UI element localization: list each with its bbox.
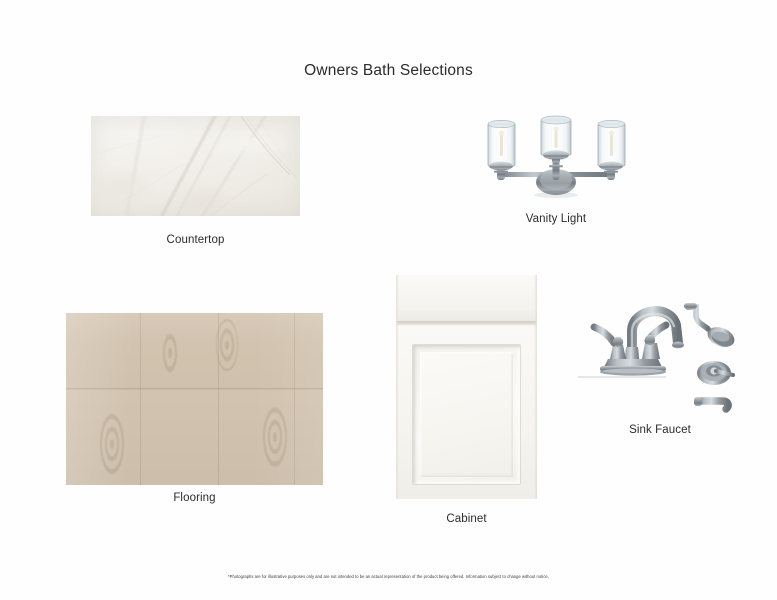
countertop-slab-icon (91, 116, 300, 216)
disclaimer-footnote: *Photographs are for illustrative purpos… (0, 573, 777, 580)
flooring-plank-icon (66, 313, 323, 485)
cabinet-door-panel (420, 352, 513, 477)
cabinet-door-frame (413, 345, 520, 484)
cabinet-door-front (396, 327, 537, 499)
cabinet-door-icon (396, 275, 537, 499)
vanity-light-icon (473, 110, 639, 202)
caption-vanity-light: Vanity Light (473, 213, 639, 225)
flooring-sheen (66, 313, 323, 485)
countertop-veining (91, 116, 300, 216)
cabinet-right-edge (534, 275, 537, 499)
cabinet-left-edge (396, 275, 399, 499)
selections-board: Owners Bath Selections Countertop (0, 0, 777, 600)
caption-flooring: Flooring (66, 492, 323, 504)
sink-faucet-icon (570, 281, 746, 413)
caption-countertop: Countertop (91, 234, 300, 246)
page-title: Owners Bath Selections (0, 62, 777, 80)
cabinet-drawer-front (396, 275, 537, 322)
caption-cabinet: Cabinet (396, 513, 537, 525)
caption-sink-faucet: Sink Faucet (580, 424, 740, 436)
